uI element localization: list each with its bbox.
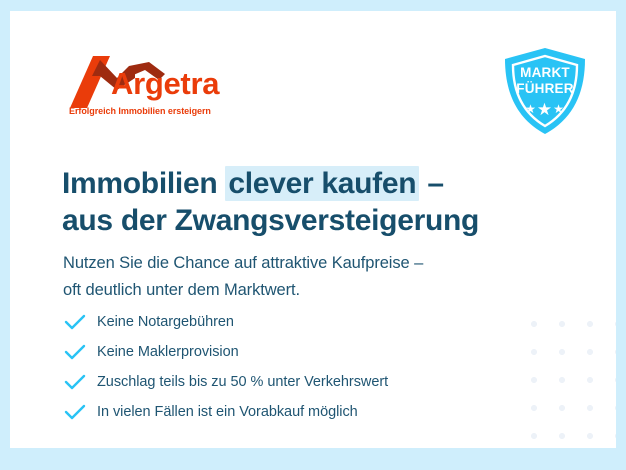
shield-icon xyxy=(499,45,591,137)
headline-part-before: Immobilien xyxy=(62,167,225,200)
list-item-label: Keine Notargebühren xyxy=(97,314,234,330)
subheading-line-2: oft deutlich unter dem Marktwert. xyxy=(63,281,300,299)
headline-highlight: clever kaufen xyxy=(225,166,419,201)
headline-line-2: aus der Zwangsversteigerung xyxy=(62,204,479,237)
list-item: Keine Notargebühren xyxy=(64,307,494,337)
list-item: Keine Maklerprovision xyxy=(64,337,494,367)
argetra-logo[interactable]: Argetra Erfolgreich Immobilien ersteiger… xyxy=(67,56,257,126)
subheading: Nutzen Sie die Chance auf attraktive Kau… xyxy=(63,250,423,304)
benefits-list: Keine Notargebühren Keine Maklerprovisio… xyxy=(64,307,494,427)
check-icon xyxy=(64,314,86,330)
list-item-label: Keine Maklerprovision xyxy=(97,344,239,360)
markt-fuehrer-badge: MARKT FÜHRER ★★★ xyxy=(499,45,591,137)
logo-tagline: Erfolgreich Immobilien ersteigern xyxy=(69,106,211,116)
dot-grid-pattern-icon xyxy=(516,306,616,448)
list-item-label: Zuschlag teils bis zu 50 % unter Verkehr… xyxy=(97,374,388,390)
list-item: Zuschlag teils bis zu 50 % unter Verkehr… xyxy=(64,367,494,397)
list-item-label: In vielen Fällen ist ein Vorabkauf mögli… xyxy=(97,404,358,420)
list-item: In vielen Fällen ist ein Vorabkauf mögli… xyxy=(64,397,494,427)
check-icon xyxy=(64,344,86,360)
headline-part-after: – xyxy=(419,167,443,200)
subheading-line-1: Nutzen Sie die Chance auf attraktive Kau… xyxy=(63,254,423,272)
headline: Immobilien clever kaufen – aus der Zwang… xyxy=(62,165,479,239)
logo-wordmark: Argetra xyxy=(111,68,219,99)
headline-line-1: Immobilien clever kaufen – xyxy=(62,166,444,201)
promo-banner: Argetra Erfolgreich Immobilien ersteiger… xyxy=(0,0,626,470)
check-icon xyxy=(64,404,86,420)
check-icon xyxy=(64,374,86,390)
banner-card: Argetra Erfolgreich Immobilien ersteiger… xyxy=(10,11,616,448)
